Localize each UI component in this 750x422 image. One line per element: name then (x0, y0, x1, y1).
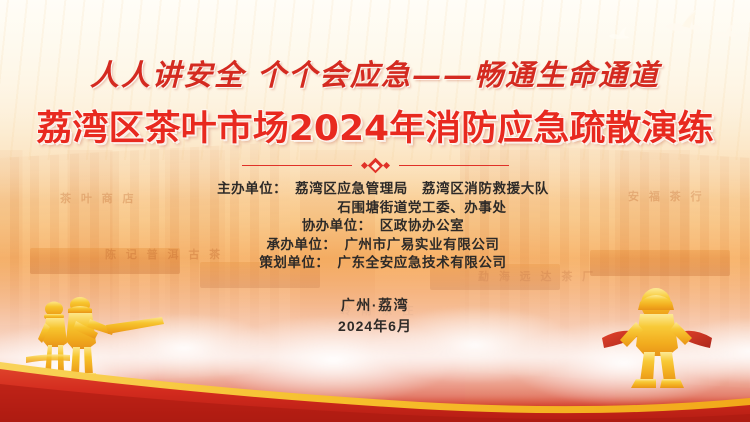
organizer-label: 协办单位： (286, 217, 372, 236)
diamond-dot-icon (360, 162, 367, 169)
date-text: 2024年6月 (0, 315, 750, 337)
organizer-list: 主办单位：荔湾区应急管理局 荔湾区消防救援大队主办单位：石围塘街道党工委、办事处… (0, 180, 750, 273)
organizer-row: 承办单位：广州市广易实业有限公司 (250, 236, 499, 255)
organizer-value: 区政协办公室 (380, 217, 465, 236)
divider-rule-right (399, 165, 509, 166)
organizer-value: 广东全安应急技术有限公司 (337, 254, 506, 273)
dove-icon (662, 6, 704, 36)
dove-icon (712, 22, 738, 40)
dove-icon (608, 26, 630, 41)
organizer-value: 荔湾区应急管理局 荔湾区消防救援大队 (295, 180, 549, 199)
diamond-dot-icon (382, 162, 389, 169)
organizer-label: 策划单位： (243, 254, 329, 273)
organizer-row: 主办单位：荔湾区应急管理局 荔湾区消防救援大队 (201, 180, 549, 199)
organizer-row: 主办单位：石围塘街道党工委、办事处 (243, 199, 506, 218)
place-text: 广州·荔湾 (0, 295, 750, 315)
organizer-label: 主办单位： (201, 180, 287, 199)
slogan-text: 人人讲安全 个个会应急——畅通生命通道 (0, 52, 750, 94)
place-date-block: 广州·荔湾 2024年6月 (0, 295, 750, 337)
divider-ornament (0, 160, 750, 171)
diamond-center-icon (367, 158, 383, 174)
organizer-value: 广州市广易实业有限公司 (344, 236, 499, 255)
organizer-row: 协办单位：区政协办公室 (286, 217, 465, 236)
bottom-wave-band (0, 332, 750, 422)
diamond-ornament-icon (362, 160, 389, 171)
divider-rule-left (242, 165, 352, 166)
organizer-row: 策划单位：广东全安应急技术有限公司 (243, 254, 506, 273)
page-title: 荔湾区茶叶市场2024年消防应急疏散演练 (0, 100, 750, 151)
poster-canvas: 茶 叶 商 店陈 记 普 洱 古 茶勐 海 远 达 茶 厂安 福 茶 行岭 南 … (0, 0, 750, 422)
organizer-label: 承办单位： (250, 236, 336, 255)
organizer-value: 石围塘街道党工委、办事处 (337, 199, 506, 218)
